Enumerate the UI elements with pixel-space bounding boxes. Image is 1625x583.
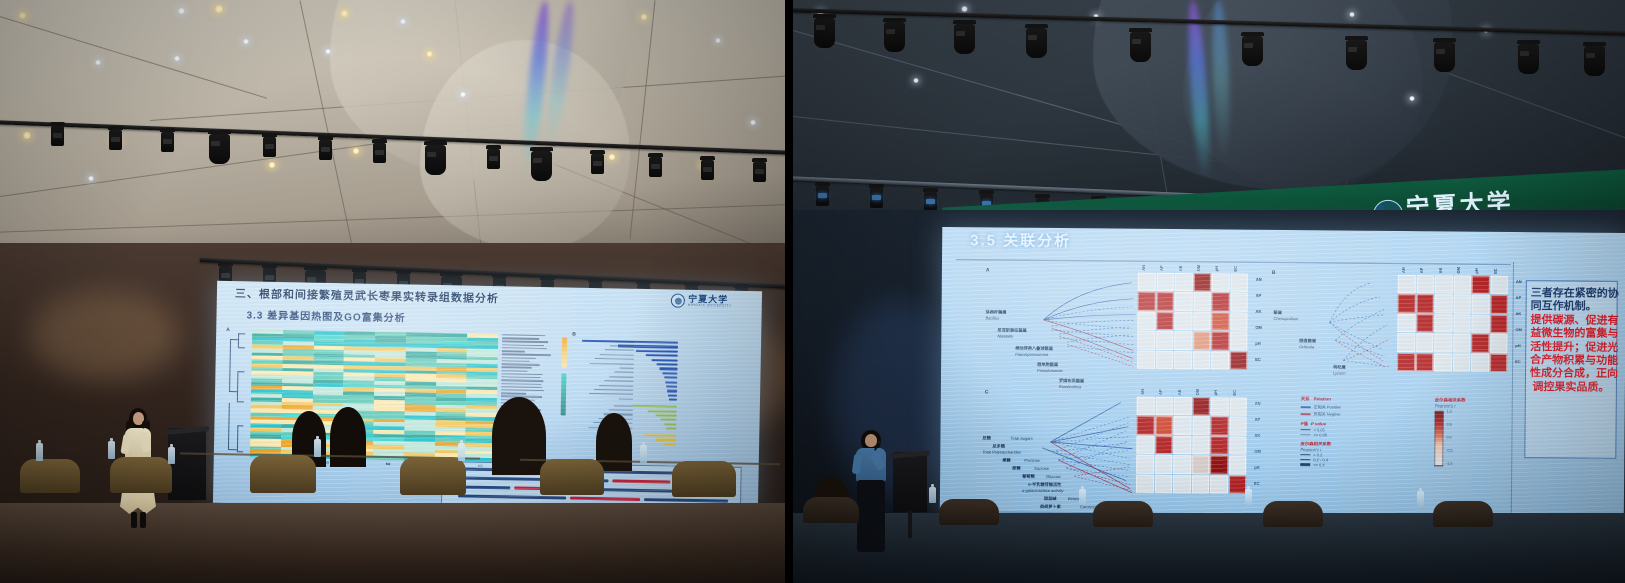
go-bar xyxy=(656,414,677,417)
panel-c-heatmap xyxy=(1136,397,1247,494)
heatmap-row-label xyxy=(502,334,545,336)
chair xyxy=(1093,501,1153,527)
correlation-cell xyxy=(1173,416,1191,435)
heatmap-column-label: pH xyxy=(1214,266,1219,271)
correlation-cell xyxy=(1416,275,1434,294)
correlation-cell xyxy=(1174,397,1192,416)
go-term-label xyxy=(604,380,633,382)
correlation-cell xyxy=(1156,331,1174,350)
ceiling-downlight xyxy=(913,78,919,83)
heatmap-row-label xyxy=(502,344,544,346)
slide-subtitle: 3.3 差异基因热图及GO富集分析 xyxy=(246,306,406,324)
colorbar-ticks: 1.00.50.0-0.5-1.0 xyxy=(1446,410,1453,466)
water-bottle xyxy=(640,445,647,463)
heatmap-row-label: EC xyxy=(1254,481,1260,486)
go-bar xyxy=(645,434,677,437)
heatmap-row-label xyxy=(501,380,543,382)
ceiling-downlight xyxy=(22,132,32,139)
panel-b-column-labels: ANAPAKOMpHEC xyxy=(1398,259,1508,274)
go-term-label xyxy=(614,405,633,407)
moving-head-light xyxy=(1025,24,1048,58)
moving-head-light xyxy=(160,128,175,152)
heatmap-column-label: OM xyxy=(1196,265,1201,271)
audience-member xyxy=(492,397,546,475)
slide-title: 三、根部和间接繁殖灵武长枣果实转录组数据分析 xyxy=(235,285,499,306)
correlation-cell xyxy=(1211,351,1229,370)
heatmap-column-label: OM xyxy=(1195,389,1200,395)
heatmap-column-label: AN xyxy=(1401,267,1406,273)
photo-divider xyxy=(785,0,793,583)
chair xyxy=(250,455,316,493)
heatmap-row-label xyxy=(502,363,540,365)
moving-head-light xyxy=(530,147,553,181)
correlation-cell xyxy=(1210,436,1228,455)
correlation-cell xyxy=(1471,334,1489,353)
correlation-cell xyxy=(1416,295,1434,314)
correlation-cell xyxy=(1230,332,1248,351)
go-term-label xyxy=(610,345,634,347)
correlation-cell xyxy=(1191,475,1209,494)
chair xyxy=(939,499,999,525)
ceiling-downlight xyxy=(1349,12,1355,17)
conclusion-red-1: 益微生物的富集与 xyxy=(1530,327,1612,341)
correlation-cell xyxy=(1472,276,1490,295)
legend-negative-label: 负相关 Negtive xyxy=(1314,411,1341,417)
ceiling-downlight xyxy=(640,14,648,20)
correlation-cell xyxy=(1173,475,1191,494)
moving-head-light xyxy=(752,158,767,182)
heatmap-row-label: pH xyxy=(1515,343,1520,348)
heatmap-row-label xyxy=(501,376,540,378)
correlation-cell xyxy=(1212,273,1230,292)
correlation-cell xyxy=(1193,331,1211,350)
correlation-cell xyxy=(1228,475,1246,494)
trait-cn-6: 甜菜碱 xyxy=(1044,496,1057,502)
conclusion-red-0: 提供碳源、促进有 xyxy=(1530,314,1612,328)
ceiling-downlight xyxy=(340,10,349,17)
heatmap-row-label xyxy=(501,386,542,388)
correlation-cell xyxy=(1230,293,1248,312)
panel-a-network xyxy=(981,271,1142,370)
legend-p-ge-swatch xyxy=(1300,434,1310,435)
correlation-cell xyxy=(1490,334,1508,353)
moving-head-light xyxy=(923,188,938,212)
go-bar xyxy=(648,410,677,413)
heatmap-row-label: OM xyxy=(1255,325,1261,330)
go-term-label xyxy=(590,362,634,364)
left-conference-photo: 三、根部和间接繁殖灵武长枣果实转录组数据分析 3.3 差异基因热图及GO富集分析… xyxy=(0,0,785,583)
conclusion-blue-0: 三者存在紧密的协 xyxy=(1531,287,1613,301)
moving-head-light xyxy=(486,145,501,169)
heatmap-row-label xyxy=(502,350,525,352)
trait-latin-5: α-galactosidase activity xyxy=(1022,488,1063,493)
wall-glow xyxy=(30,290,180,380)
heatmap-column-label: AP xyxy=(1419,268,1424,274)
ceiling-downlight xyxy=(325,49,331,54)
audience-area-right xyxy=(793,513,1625,583)
water-bottle xyxy=(36,443,43,461)
go-term-label xyxy=(605,350,634,352)
panel-a-row-labels: ANAPAKOMpHEC xyxy=(1251,274,1252,370)
heatmap-row-label xyxy=(501,370,527,372)
trait-latin-3: Sucrose xyxy=(1034,466,1049,471)
moving-head-light xyxy=(262,133,277,157)
go-bar xyxy=(662,372,677,374)
moving-head-light xyxy=(953,20,976,54)
correlation-cell xyxy=(1472,295,1490,314)
legend-negative-swatch xyxy=(1301,414,1311,415)
go-bar xyxy=(666,381,678,383)
ceiling-downlight xyxy=(961,6,968,12)
pearson-colorbar: 皮尔森相关系数 Pearson's r 1.00.50.0-0.5-1.0 xyxy=(1434,397,1465,466)
heatmap-row-label: EC xyxy=(1255,357,1261,362)
legend-p-lt-swatch xyxy=(1301,429,1311,430)
chair xyxy=(110,457,172,493)
conclusion-red-4: 性成分合成，正向 xyxy=(1530,368,1612,382)
podium-right xyxy=(893,452,927,512)
go-bar xyxy=(667,428,677,430)
go-bar xyxy=(652,359,678,362)
slide-right: 3.5 关联分析 A ANAPAKOMpHEC xyxy=(940,227,1625,525)
correlation-cell xyxy=(1398,294,1416,313)
correlation-cell xyxy=(1174,312,1192,331)
correlation-cell xyxy=(1192,436,1210,455)
taxon-latin-1: Niastella xyxy=(997,334,1012,339)
correlation-cell xyxy=(1210,475,1228,494)
correlation-cell xyxy=(1193,273,1211,292)
go-bar xyxy=(664,377,677,379)
go-bar xyxy=(660,419,676,422)
go-bar xyxy=(636,350,678,353)
correlation-cell xyxy=(1490,315,1508,334)
water-bottle xyxy=(929,487,936,503)
heatmap-row-label: pH xyxy=(1254,465,1259,470)
divider-vertical xyxy=(1511,262,1514,520)
correlation-cell xyxy=(1156,350,1174,369)
panel-c-row-labels: ANAPAKOMpHEC xyxy=(1250,398,1251,494)
correlation-cell xyxy=(1397,333,1415,352)
water-bottle xyxy=(168,447,175,464)
colorbar-gradient xyxy=(1434,410,1443,466)
legend-relation-title-cn: 关系 xyxy=(1301,396,1310,402)
correlation-cell xyxy=(1453,353,1471,372)
moving-head-light xyxy=(424,141,447,175)
heatmap-row-label xyxy=(502,360,530,362)
heatmap-column-label: pH xyxy=(1474,268,1479,273)
heatmap-row-label: OM xyxy=(1254,449,1260,454)
ceiling-downlight xyxy=(178,8,185,14)
conclusion-red-5: 调控果实品质。 xyxy=(1530,381,1612,395)
correlation-cell xyxy=(1229,417,1247,436)
taxon-b-latin-0: Chenopodium xyxy=(1273,316,1298,321)
heatmap-row-label: AK xyxy=(1254,433,1260,438)
correlation-cell xyxy=(1192,417,1210,436)
correlation-cell xyxy=(1453,275,1471,294)
heatmap-row-label: AN xyxy=(1256,277,1262,282)
water-bottle xyxy=(108,441,115,459)
correlation-cell xyxy=(1490,276,1508,295)
correlation-cell xyxy=(1155,397,1173,416)
heatmap-row-label: AP xyxy=(1255,417,1261,422)
taxon-latin-2: Paenisporosarcina xyxy=(1015,352,1048,357)
trait-cn-3: 蔗糖 xyxy=(1012,466,1020,472)
heatmap-column-label: AK xyxy=(1176,389,1181,395)
correlation-cell xyxy=(1416,333,1434,352)
correlation-cell xyxy=(1155,416,1173,435)
go-bar xyxy=(656,439,676,442)
go-bar xyxy=(646,354,678,357)
heatmap-column-label: OM xyxy=(1456,267,1461,273)
correlation-cell xyxy=(1435,295,1453,314)
moving-head-light xyxy=(1345,36,1368,70)
correlation-cell xyxy=(1175,273,1193,292)
chair xyxy=(400,457,466,495)
colorbar-tick-label: -1.0 xyxy=(1446,463,1452,467)
heatmap-column-label: AK xyxy=(1437,268,1442,274)
ceiling-downlight xyxy=(18,12,27,19)
ceiling-downlight xyxy=(243,39,249,44)
taxon-b-latin-2: Lycium xyxy=(1333,370,1346,375)
correlation-cell xyxy=(1229,398,1247,417)
correlation-cell xyxy=(1156,292,1174,311)
ceiling-downlight xyxy=(460,92,466,97)
go-bar xyxy=(668,390,678,392)
moving-head-light xyxy=(590,150,605,174)
ceiling-downlight xyxy=(95,60,101,65)
correlation-cell xyxy=(1175,292,1193,311)
heatmap-column-label: AK xyxy=(1178,265,1183,271)
slide-title: 3.5 关联分析 xyxy=(970,229,1071,251)
ceiling-downlight xyxy=(1409,96,1415,101)
conclusion-blue-1: 同互作机制。 xyxy=(1531,301,1613,315)
correlation-cell xyxy=(1453,295,1471,314)
go-bar xyxy=(669,399,677,401)
ceiling-downlight xyxy=(750,120,756,125)
legend-p-ge-label: >= 0.05 xyxy=(1313,432,1327,437)
moving-head-light xyxy=(813,14,836,48)
correlation-cell xyxy=(1434,353,1452,372)
correlation-cell xyxy=(1398,275,1416,294)
heatmap-column-label: AP xyxy=(1159,265,1164,271)
water-bottle xyxy=(1417,491,1424,507)
correlation-cell xyxy=(1211,397,1229,416)
audience-area-left xyxy=(0,483,785,583)
colorbar-tick-label: -0.5 xyxy=(1446,450,1452,454)
go-term-label xyxy=(609,376,633,378)
right-conference-photo: 宁夏大学 NINGXIA UNIVERSITY 3.5 关联分析 A ANAPA… xyxy=(793,0,1625,583)
heatmap-column-label: M2 xyxy=(373,462,404,467)
correlation-cell xyxy=(1453,314,1471,333)
moving-head-light xyxy=(1517,40,1540,74)
ceiling-downlight xyxy=(214,5,224,13)
water-bottle xyxy=(1079,489,1086,505)
moving-head-light xyxy=(1433,38,1456,72)
water-bottle xyxy=(1245,489,1252,505)
correlation-cell xyxy=(1154,474,1172,493)
moving-head-light xyxy=(108,126,123,150)
panel-a-heatmap xyxy=(1137,273,1248,370)
moving-head-light xyxy=(318,136,333,160)
panel-b-network xyxy=(1271,274,1400,373)
water-bottle xyxy=(458,443,465,461)
go-bar xyxy=(659,368,677,371)
panel-a-column-labels: ANAPAKOMpHEC xyxy=(1138,257,1248,272)
moving-head-light xyxy=(869,184,884,208)
conclusion-red-3: 合产物积累与功能 xyxy=(1530,354,1612,368)
legend-positive-label: 正相关 Positive xyxy=(1314,404,1341,410)
go-bar xyxy=(667,385,678,387)
ceiling-downlight xyxy=(268,162,276,168)
correlation-cell xyxy=(1193,351,1211,370)
chair xyxy=(1263,501,1323,527)
correlation-cell xyxy=(1192,455,1210,474)
trait-cn-7: 类胡萝卜素 xyxy=(1040,504,1061,510)
correlation-cell xyxy=(1397,353,1415,372)
go-bar xyxy=(633,405,677,408)
legend-r-ge-swatch xyxy=(1300,464,1310,466)
heatmap-row-label xyxy=(502,347,548,349)
trait-cn-4: 葡萄糖 xyxy=(1022,474,1035,480)
ceiling-downlight xyxy=(426,51,433,57)
trait-latin-0: Total Sugars xyxy=(1010,436,1032,441)
correlation-legend: 关系 Relation 正相关 Positive 负相关 Negtive P值 … xyxy=(1300,396,1421,468)
heatmap-row-label xyxy=(502,354,551,356)
heatmap-row-label xyxy=(501,389,544,391)
water-bottle xyxy=(314,439,321,457)
legend-positive-swatch xyxy=(1301,407,1311,408)
heatmap-row-label: pH xyxy=(1255,341,1260,346)
correlation-cell xyxy=(1155,436,1173,455)
chair xyxy=(672,461,736,497)
correlation-cell xyxy=(1174,331,1192,350)
go-term-label xyxy=(620,367,634,368)
heatmap-column-label: AP xyxy=(1158,389,1163,395)
go-term-label xyxy=(600,354,634,356)
colorbar-title-en: Pearson's r xyxy=(1435,403,1466,408)
correlation-cell xyxy=(1434,334,1452,353)
colorbar-tick-label: 1.0 xyxy=(1447,410,1453,414)
go-bar xyxy=(668,394,677,396)
correlation-cell xyxy=(1212,293,1230,312)
moving-head-light xyxy=(372,139,387,163)
moving-head-light xyxy=(208,130,231,164)
heatmap-column-label: pH xyxy=(1213,390,1218,395)
heatmap-row-label: AP xyxy=(1256,293,1262,298)
correlation-cell xyxy=(1416,314,1434,333)
heatmap-row-label: AK xyxy=(1256,309,1262,314)
trait-latin-1: Total Polysaccharides xyxy=(982,449,1021,454)
chair xyxy=(803,497,859,523)
correlation-cell xyxy=(1211,312,1229,331)
ceiling-downlight xyxy=(400,19,406,24)
correlation-cell xyxy=(1397,314,1415,333)
trait-cn-0: 总糖 xyxy=(982,435,990,441)
trait-latin-4: Glucose xyxy=(1046,474,1061,479)
correlation-cell xyxy=(1229,456,1247,475)
correlation-cell xyxy=(1155,455,1173,474)
correlation-cell xyxy=(1453,334,1471,353)
legend-r-ge-label: >= 0.4 xyxy=(1313,462,1324,467)
correlation-cell xyxy=(1211,332,1229,351)
heatmap-row-label xyxy=(501,373,542,375)
heatmap-row-label xyxy=(501,383,541,385)
legend-relation-title-en: Relation xyxy=(1314,396,1331,402)
legend-pvalue-title-cn: P值 xyxy=(1301,421,1308,427)
go-term-label xyxy=(619,398,633,399)
heatmap-row-label: AK xyxy=(1516,311,1522,316)
correlation-cell xyxy=(1490,353,1508,372)
go-bar xyxy=(663,443,676,445)
heatmap-colorbar-cool xyxy=(561,373,567,415)
heatmap-row-label: OM xyxy=(1515,327,1521,332)
heatmap-row-label: EC xyxy=(1515,359,1521,364)
go-term-label xyxy=(594,389,633,391)
panel-b-row-labels-left: ANAPAKOMpHEC xyxy=(1255,274,1256,370)
heatmap-row-label: AN xyxy=(1255,401,1261,406)
correlation-cell xyxy=(1193,293,1211,312)
logo-emblem-icon xyxy=(671,294,685,308)
taxon-b-latin-1: Orbicula xyxy=(1299,344,1314,349)
photo-pair-stage: 三、根部和间接繁殖灵武长枣果实转录组数据分析 3.3 差异基因热图及GO富集分析… xyxy=(0,0,1625,583)
moving-head-light xyxy=(700,156,715,180)
correlation-cell xyxy=(1230,312,1248,331)
correlation-cell xyxy=(1192,397,1210,416)
moving-head-light xyxy=(815,182,830,206)
heatmap-row-label xyxy=(502,338,539,340)
ceiling-downlight xyxy=(608,154,616,160)
chair xyxy=(20,459,80,493)
correlation-cell xyxy=(1416,353,1434,372)
moving-head-light xyxy=(883,18,906,52)
heatmap-row-label: AP xyxy=(1516,295,1522,300)
panel-b-heatmap xyxy=(1397,275,1508,372)
legend-r-mid-swatch xyxy=(1300,459,1310,460)
moving-head-light xyxy=(648,153,663,177)
go-term-label xyxy=(609,409,633,411)
go-term-label xyxy=(589,393,633,395)
go-term-label xyxy=(595,358,634,360)
go-term-label xyxy=(599,385,633,387)
correlation-cell xyxy=(1210,417,1228,436)
moving-head-light xyxy=(1129,28,1152,62)
correlation-cell xyxy=(1156,273,1174,292)
heatmap-column-label: EC xyxy=(1492,268,1497,274)
chair xyxy=(1433,501,1493,527)
heatmap-column-label: AN xyxy=(1140,389,1145,395)
ceiling-downlight xyxy=(174,56,180,61)
correlation-cell xyxy=(1174,351,1192,370)
taxon-latin-0: Bacillus xyxy=(985,315,999,320)
correlation-cell xyxy=(1210,456,1228,475)
audience-member xyxy=(330,407,366,467)
correlation-cell xyxy=(1435,275,1453,294)
conclusion-red-2: 活性提升；促进光 xyxy=(1530,341,1612,355)
go-term-label xyxy=(614,372,633,374)
panel-c-column-labels: ANAPAKOMpHEC xyxy=(1137,381,1247,396)
trait-latin-2: Fructose xyxy=(1024,458,1040,463)
heatmap-column-label: EC xyxy=(1231,390,1236,396)
correlation-cell xyxy=(1173,436,1191,455)
conclusion-box-right: 三者存在紧密的协 同互作机制。 提供碳源、促进有 益微生物的富集与 活性提升；促… xyxy=(1524,280,1618,459)
heatmap-column-label: EC xyxy=(1232,266,1237,272)
dendrogram xyxy=(228,331,252,453)
go-bar xyxy=(664,423,677,425)
correlation-cell xyxy=(1173,455,1191,474)
heatmap-row-label xyxy=(502,357,536,359)
colorbar-tick-label: 0.5 xyxy=(1447,424,1453,428)
correlation-cell xyxy=(1193,312,1211,331)
ceiling-downlight xyxy=(88,176,94,181)
